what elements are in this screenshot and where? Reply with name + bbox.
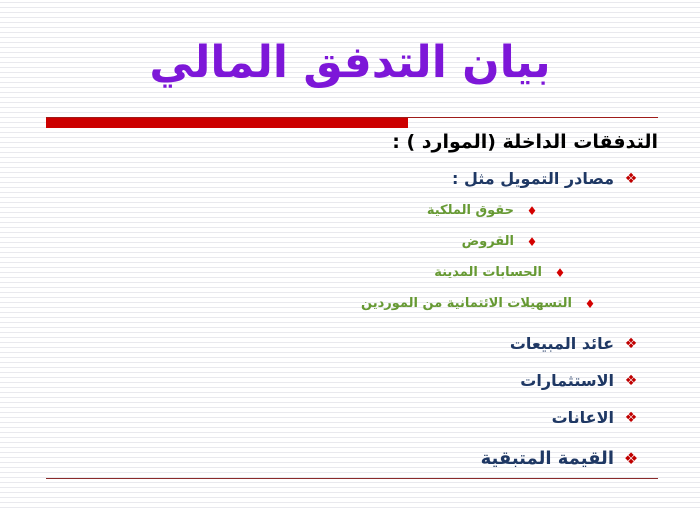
slide-canvas: بيان التدفق المالي التدفقات الداخلة (الم… — [0, 0, 700, 508]
bullet-residual-value[interactable]: ❖ القيمة المتبقية — [42, 443, 658, 475]
bullet-receivable-accounts-label: الحسابات المدينة — [434, 261, 552, 285]
page-title: بيان التدفق المالي — [149, 34, 550, 92]
bullet-sources-of-finance-label: مصادر التمويل مثل : — [452, 166, 622, 192]
diamond-bullet-icon: ♦ — [582, 298, 598, 310]
diamond-cluster-bullet-icon: ❖ — [622, 411, 640, 425]
diamond-bullet-icon: ♦ — [552, 267, 568, 279]
bullet-subsidies[interactable]: ❖ الاعانات — [42, 402, 658, 434]
diamond-cluster-bullet-icon: ❖ — [622, 451, 640, 467]
bullet-supplier-credit-facilities[interactable]: ♦ التسهيلات الائتمانية من الموردين — [42, 288, 658, 319]
bullet-residual-value-label: القيمة المتبقية — [481, 446, 622, 472]
bullet-equity[interactable]: ♦ حقوق الملكية — [42, 195, 658, 226]
divider-red-bar — [46, 118, 408, 128]
title-area: بيان التدفق المالي — [0, 34, 700, 112]
diamond-bullet-icon: ♦ — [524, 205, 540, 217]
diamond-cluster-bullet-icon: ❖ — [622, 172, 640, 186]
spacer — [42, 319, 658, 328]
bullet-investments-label: الاستثمارات — [520, 368, 622, 394]
diamond-cluster-bullet-icon: ❖ — [622, 337, 640, 351]
content-body: التدفقات الداخلة (الموارد ) : ❖ مصادر ال… — [0, 128, 700, 458]
diamond-bullet-icon: ♦ — [524, 236, 540, 248]
bullet-supplier-credit-facilities-label: التسهيلات الائتمانية من الموردين — [361, 292, 582, 316]
bullet-receivable-accounts[interactable]: ♦ الحسابات المدينة — [42, 257, 658, 288]
bullet-loans[interactable]: ♦ القروض — [42, 226, 658, 257]
spacer — [42, 434, 658, 443]
bullet-subsidies-label: الاعانات — [552, 405, 622, 431]
bullet-equity-label: حقوق الملكية — [427, 199, 524, 223]
diamond-cluster-bullet-icon: ❖ — [622, 374, 640, 388]
bullet-investments[interactable]: ❖ الاستثمارات — [42, 365, 658, 397]
section-heading-text: التدفقات الداخلة (الموارد ) : — [392, 128, 658, 156]
bottom-rule — [46, 478, 658, 479]
bullet-sales-revenue-label: عائد المبيعات — [510, 331, 622, 357]
title-divider — [0, 114, 700, 128]
section-heading-row: التدفقات الداخلة (الموارد ) : — [42, 128, 658, 158]
bullet-loans-label: القروض — [462, 230, 524, 254]
bullet-sales-revenue[interactable]: ❖ عائد المبيعات — [42, 328, 658, 360]
bullet-sources-of-finance[interactable]: ❖ مصادر التمويل مثل : — [42, 163, 658, 195]
